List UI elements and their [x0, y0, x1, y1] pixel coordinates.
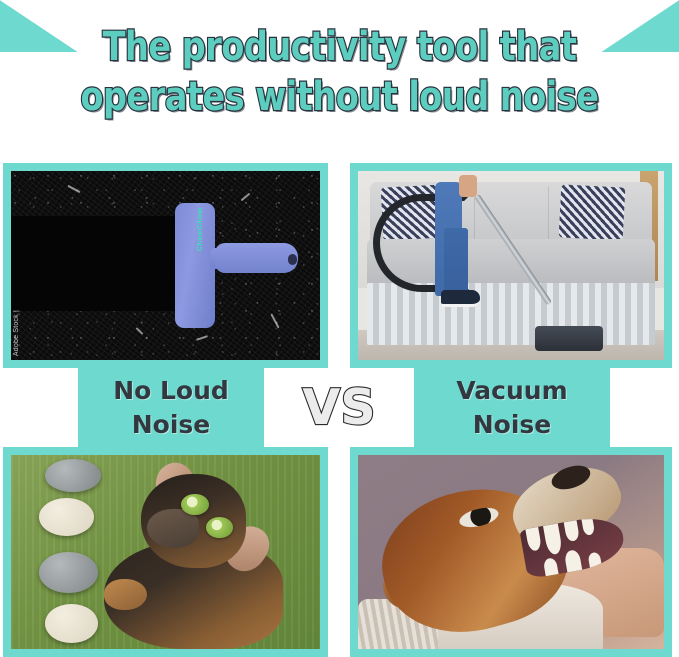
carpet-cleaned-area [11, 216, 184, 311]
spa-stone [45, 459, 101, 492]
photo-panel-barking-dog [350, 447, 672, 657]
dog-paw [104, 579, 147, 610]
stock-watermark: Adobe Stock | [13, 310, 20, 356]
comparison-band: No Loud Noise VS Vacuum Noise [0, 368, 679, 447]
title-line-1: The productivity tool that [24, 22, 655, 72]
barking-dog-photo [358, 455, 664, 649]
roller-brand-label: ChomChom [197, 207, 204, 251]
vacuum-wand-rod [474, 194, 552, 306]
dog-tooth [587, 552, 602, 569]
spa-stone [45, 604, 98, 643]
dog-tooth [543, 523, 563, 555]
living-room-scene [358, 171, 664, 360]
dog-tooth [543, 557, 559, 576]
vacuum-photo [358, 171, 664, 360]
photo-panel-lint-roller: ChomChom Adobe Stock | [3, 163, 328, 368]
left-label-line-2: Noise [132, 408, 211, 442]
vacuum-wand [474, 197, 578, 318]
versus-badge: VS [264, 368, 414, 447]
lint-roller-photo: ChomChom Adobe Stock | [11, 171, 320, 360]
dog-tooth [564, 520, 579, 542]
lint-roller-head: ChomChom [175, 203, 215, 328]
photo-panel-calm-dog [3, 447, 328, 657]
spa-stone [39, 552, 98, 593]
label-no-loud-noise: No Loud Noise [78, 368, 264, 447]
lint-roller-handle [215, 243, 298, 273]
page-title: The productivity tool that operates with… [24, 22, 655, 122]
left-label-line-1: No Loud [113, 374, 229, 408]
lint-roller-hang-hole [288, 254, 298, 264]
person-hand [459, 175, 477, 198]
infographic-page: The productivity tool that operates with… [0, 0, 679, 657]
calm-dog-photo [11, 455, 320, 649]
dog-tooth [564, 549, 582, 572]
title-line-2: operates without loud noise [24, 72, 655, 122]
cucumber-slice [181, 494, 209, 515]
photo-panel-vacuum [350, 163, 672, 368]
versus-text: VS [302, 383, 375, 432]
label-vacuum-noise: Vacuum Noise [414, 368, 610, 447]
dog-muzzle [147, 509, 200, 548]
right-label-line-1: Vacuum [456, 374, 567, 408]
right-label-line-2: Noise [473, 408, 552, 442]
dog-tooth [581, 517, 595, 536]
vacuum-floor-head [535, 326, 602, 351]
dog-tooth [526, 527, 543, 552]
